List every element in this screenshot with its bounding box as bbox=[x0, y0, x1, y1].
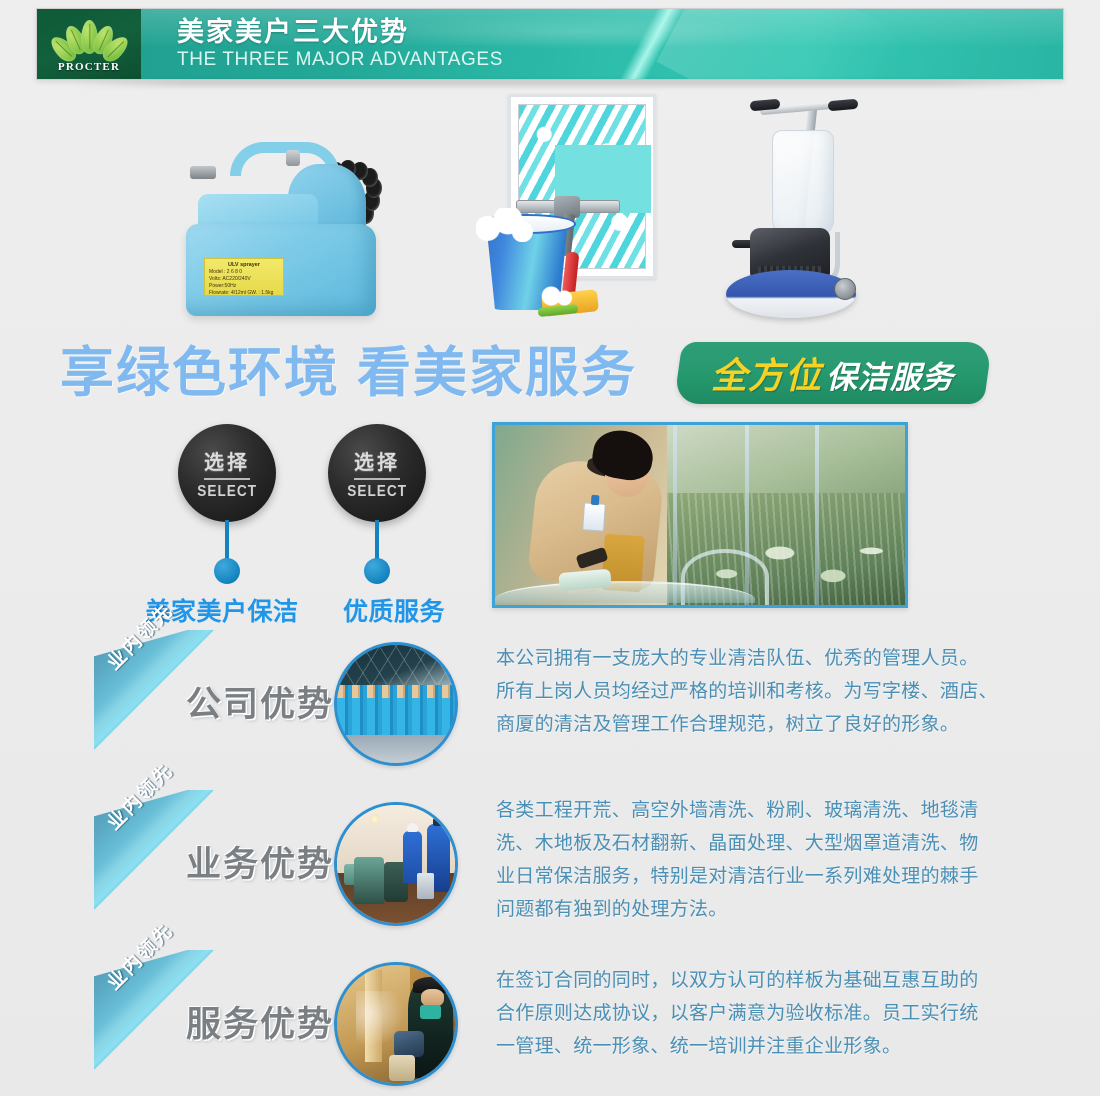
service-badge-rest: 保洁服务 bbox=[827, 352, 955, 397]
polisher-wheel bbox=[834, 278, 856, 300]
select-circle-2: 选择 SELECT bbox=[328, 424, 426, 522]
brand-logo: PROCTER bbox=[37, 9, 141, 80]
team-photo-staff-row bbox=[337, 685, 455, 735]
sponge-foam bbox=[536, 286, 574, 306]
advantage-text-3-line-2: 合作原则达成协议，以客户满意为验收标准。员工实行统 bbox=[496, 997, 1016, 1030]
sprayer-nozzle bbox=[190, 166, 216, 179]
room-chair-1 bbox=[354, 857, 385, 904]
polisher-grip-right bbox=[828, 99, 859, 112]
product-image-row: ULV sprayer Model : 2 6 8 0 Volts: AC220… bbox=[0, 88, 1100, 338]
select-label-en-1: SELECT bbox=[197, 483, 257, 501]
advantage-title-1: 公司优势 bbox=[186, 676, 334, 727]
sprayer-label-line2: Volts: AC220/240V Power:50Hz bbox=[209, 276, 251, 289]
advantage-block-service: 业内领先 服务优势 在签订合同的同时，以双方认可的样板为基础互惠互助的 合作原则… bbox=[0, 944, 1100, 1096]
advantage-text-2-line-1: 各类工程开荒、高空外墙清洗、粉刷、玻璃清洗、地毯清 bbox=[496, 794, 1016, 827]
hero-id-badge bbox=[582, 502, 606, 531]
select-pin-1[interactable]: 选择 SELECT 美家美户保洁 bbox=[150, 424, 306, 522]
pin-dot-2 bbox=[364, 558, 390, 584]
advantage-text-3-line-1: 在签订合同的同时，以双方认可的样板为基础互惠互助的 bbox=[496, 964, 1016, 997]
spray-cleaning-photo bbox=[337, 965, 455, 1083]
select-label-cn-1: 选择 bbox=[204, 446, 250, 480]
advantage-text-2-line-2: 洗、木地板及石材翻新、晶面处理、大型烟罩道清洗、物 bbox=[496, 827, 1016, 860]
header-banner: PROCTER 美家美户三大优势 THE THREE MAJOR ADVANTA… bbox=[36, 8, 1064, 80]
pin-dot-1 bbox=[214, 558, 240, 584]
advantage-text-1-line-1: 本公司拥有一支庞大的专业清洁队伍、优秀的管理人员。 bbox=[496, 642, 1016, 675]
advantage-text-2: 各类工程开荒、高空外墙清洗、粉刷、玻璃清洗、地毯清 洗、木地板及石材翻新、晶面处… bbox=[496, 794, 1016, 926]
advantage-text-2-line-3: 业日常保洁服务，特别是对清洁行业一系列难处理的棘手 bbox=[496, 860, 1016, 893]
advantage-text-2-line-4: 问题都有独到的处理方法。 bbox=[496, 893, 1016, 926]
service-badge-highlight: 全方位 bbox=[711, 347, 822, 399]
banner-diagonal-streak bbox=[606, 8, 693, 80]
advantage-title-3: 服务优势 bbox=[186, 996, 334, 1047]
leaf-crown-icon bbox=[51, 18, 127, 60]
sprayer-label-line1: Model : 2 6 8 0 bbox=[209, 269, 242, 275]
advantage-photo-1 bbox=[334, 642, 458, 766]
banner-title-cn: 美家美户三大优势 bbox=[177, 17, 503, 47]
promo-page: PROCTER 美家美户三大优势 THE THREE MAJOR ADVANTA… bbox=[0, 0, 1100, 1096]
brand-name: PROCTER bbox=[58, 61, 120, 73]
spray-tank bbox=[389, 1055, 415, 1081]
ulv-sprayer-image: ULV sprayer Model : 2 6 8 0 Volts: AC220… bbox=[168, 106, 418, 331]
floor-polisher-image bbox=[716, 92, 906, 332]
pin-caption-2: 优质服务 bbox=[316, 592, 472, 628]
select-label-en-2: SELECT bbox=[347, 483, 407, 501]
banner-drop-shadow bbox=[70, 80, 1050, 87]
bucket-suds bbox=[476, 208, 534, 242]
advantage-text-1-line-2: 所有上岗人员均经过严格的培训和考核。为写字楼、酒店、 bbox=[496, 675, 1016, 708]
team-photo bbox=[337, 645, 455, 763]
polisher-solution-tank bbox=[772, 130, 834, 238]
banner-title-en: THE THREE MAJOR ADVANTAGES bbox=[177, 47, 503, 73]
hero-window-mullion-1 bbox=[815, 425, 819, 605]
banner-titles: 美家美户三大优势 THE THREE MAJOR ADVANTAGES bbox=[177, 17, 503, 73]
advantage-text-3: 在签订合同的同时，以双方认可的样板为基础互惠互助的 合作原则达成协议，以客户满意… bbox=[496, 964, 1016, 1063]
advantage-photo-3 bbox=[334, 962, 458, 1086]
interior-cleaning-photo bbox=[337, 805, 455, 923]
sprayer-label-title: ULV sprayer bbox=[209, 262, 279, 269]
advantage-text-1: 本公司拥有一支庞大的专业清洁队伍、优秀的管理人员。 所有上岗人员均经过严格的培训… bbox=[496, 642, 1016, 741]
advantage-photo-2 bbox=[334, 802, 458, 926]
hero-photo bbox=[492, 422, 908, 608]
service-badge: 全方位 保洁服务 bbox=[674, 342, 993, 404]
spray-worker-collar bbox=[420, 1005, 441, 1019]
sprayer-label-line3: Flowrate: 4/12ml GW. : 1.5kg bbox=[209, 290, 273, 296]
team-photo-roof bbox=[337, 645, 455, 685]
team-photo-ground bbox=[337, 735, 455, 763]
spray-device bbox=[394, 1031, 425, 1057]
advantage-title-2: 业务优势 bbox=[186, 836, 334, 887]
banner-diagonal-streak-wide bbox=[656, 8, 907, 80]
sprayer-cap bbox=[286, 150, 300, 166]
main-headline: 享绿色环境 看美家服务 bbox=[60, 342, 637, 404]
sprayer-spec-label: ULV sprayer Model : 2 6 8 0 Volts: AC220… bbox=[204, 258, 284, 296]
select-pin-2[interactable]: 选择 SELECT 优质服务 bbox=[300, 424, 456, 522]
room-cleaning-cart bbox=[417, 873, 434, 899]
advantage-text-3-line-3: 一管理、统一形象、统一培训并注重企业形象。 bbox=[496, 1030, 1016, 1063]
select-circle-1: 选择 SELECT bbox=[178, 424, 276, 522]
select-label-cn-2: 选择 bbox=[354, 446, 400, 480]
window-cleaning-image bbox=[476, 88, 661, 328]
advantage-text-1-line-3: 商厦的清洁及管理工作合理规范，树立了良好的形象。 bbox=[496, 708, 1016, 741]
